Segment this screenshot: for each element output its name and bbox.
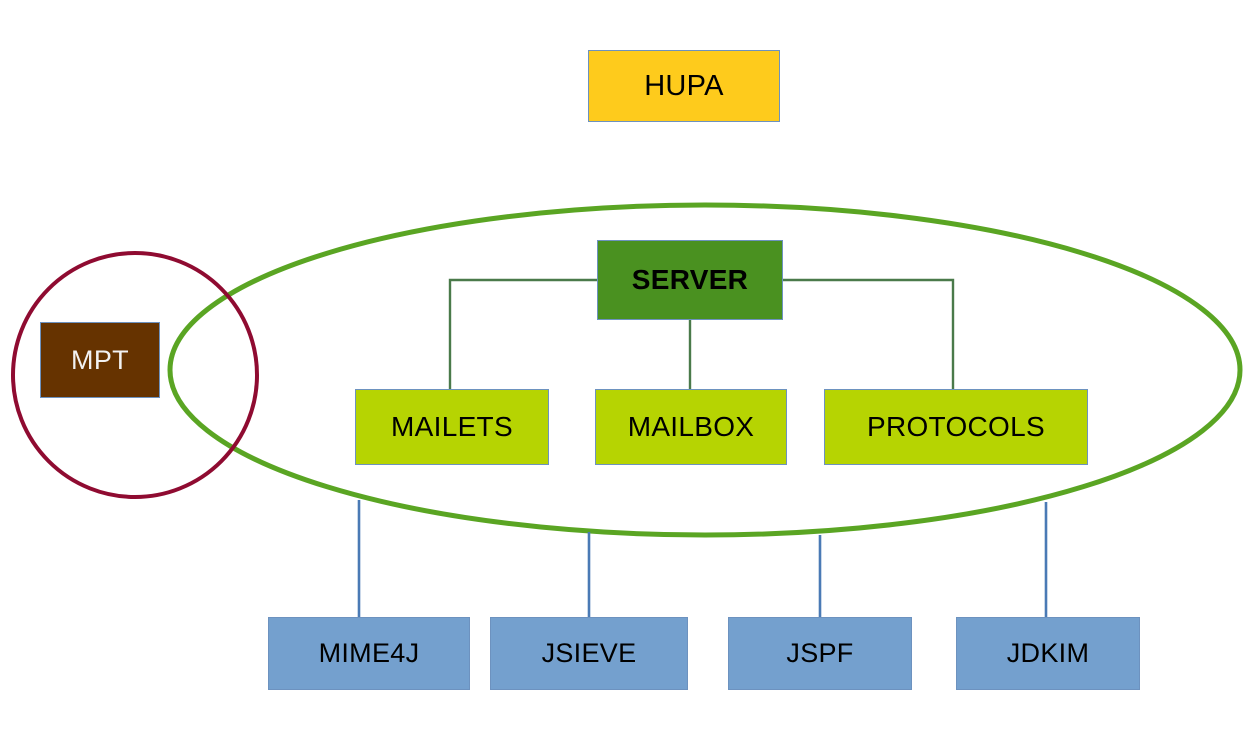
node-jdkim[interactable]: JDKIM: [956, 617, 1140, 690]
node-mpt[interactable]: MPT: [40, 322, 160, 398]
node-mailets-label: MAILETS: [391, 411, 513, 443]
node-jsieve-label: JSIEVE: [542, 638, 637, 669]
node-jspf[interactable]: JSPF: [728, 617, 912, 690]
node-jspf-label: JSPF: [786, 638, 853, 669]
node-server-label: SERVER: [632, 264, 748, 296]
node-hupa-label: HUPA: [644, 70, 724, 103]
node-jsieve[interactable]: JSIEVE: [490, 617, 688, 690]
node-jdkim-label: JDKIM: [1007, 638, 1090, 669]
connector-server-protocols: [783, 280, 953, 389]
node-protocols[interactable]: PROTOCOLS: [824, 389, 1088, 465]
node-mailbox[interactable]: MAILBOX: [595, 389, 787, 465]
node-server[interactable]: SERVER: [597, 240, 783, 320]
node-mailbox-label: MAILBOX: [628, 411, 755, 443]
diagram-canvas: HUPA MPT SERVER MAILETS MAILBOX PROTOCOL…: [0, 0, 1248, 741]
node-mailets[interactable]: MAILETS: [355, 389, 549, 465]
node-mpt-label: MPT: [71, 345, 129, 376]
node-mime4j-label: MIME4J: [319, 638, 420, 669]
node-mime4j[interactable]: MIME4J: [268, 617, 470, 690]
connector-server-mailets: [450, 280, 597, 389]
node-hupa[interactable]: HUPA: [588, 50, 780, 122]
node-protocols-label: PROTOCOLS: [867, 411, 1045, 443]
